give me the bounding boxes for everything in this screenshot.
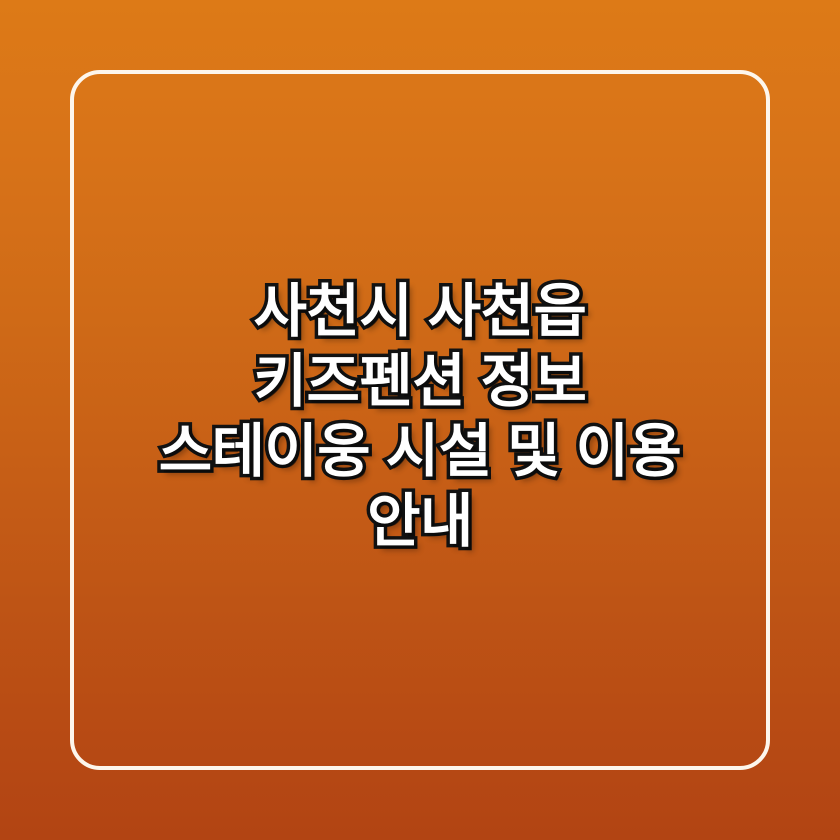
headline-block: 사천시 사천읍 키즈펜션 정보 스테이웅 시설 및 이용 안내 — [0, 0, 840, 840]
headline-line-4: 안내 — [0, 487, 840, 557]
headline-line-2: 키즈펜션 정보 — [0, 347, 840, 417]
headline-line-1: 사천시 사천읍 — [0, 277, 840, 347]
poster-canvas: 사천시 사천읍 키즈펜션 정보 스테이웅 시설 및 이용 안내 — [0, 0, 840, 840]
headline-line-3: 스테이웅 시설 및 이용 — [0, 417, 840, 487]
